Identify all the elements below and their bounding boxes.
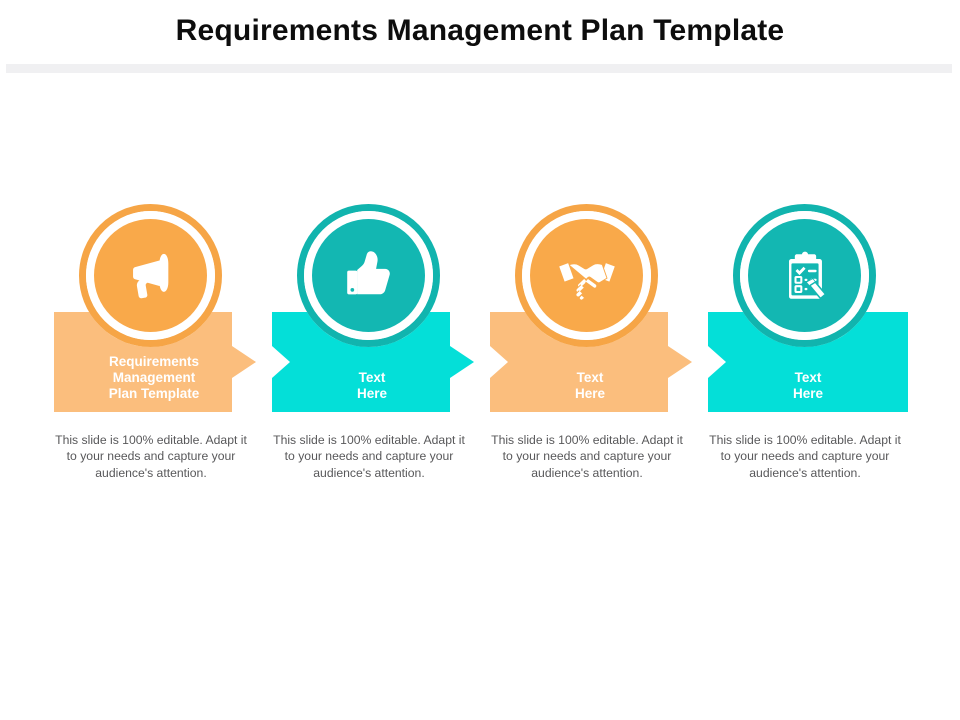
card-row: Requirements Management Plan Template Th… [0, 198, 960, 528]
card-1[interactable]: Requirements Management Plan Template Th… [42, 198, 260, 528]
card-1-icon-disc [94, 219, 207, 332]
title-divider [6, 64, 952, 73]
card-2-icon-circle[interactable] [297, 204, 440, 347]
card-3[interactable]: Text Here [478, 198, 696, 528]
megaphone-icon [118, 243, 184, 309]
card-2-body: This slide is 100% editable. Adapt it to… [267, 432, 471, 481]
page-title: Requirements Management Plan Template [0, 14, 960, 48]
card-4[interactable]: Text Here [696, 198, 914, 528]
card-3-icon-circle[interactable] [515, 204, 658, 347]
thumbs-up-icon [338, 245, 400, 307]
slide-canvas: { "slide": { "title": "Requirements Mana… [0, 0, 960, 720]
card-3-body: This slide is 100% editable. Adapt it to… [485, 432, 689, 481]
card-4-icon-circle[interactable] [733, 204, 876, 347]
card-4-icon-disc [748, 219, 861, 332]
card-1-icon-circle[interactable] [79, 204, 222, 347]
card-2[interactable]: Text Here This slide is 100% editable. A… [260, 198, 478, 528]
card-2-icon-disc [312, 219, 425, 332]
clipboard-checklist-pencil-icon [774, 245, 836, 307]
handshake-icon [554, 243, 620, 309]
card-4-body: This slide is 100% editable. Adapt it to… [703, 432, 907, 481]
card-1-body: This slide is 100% editable. Adapt it to… [49, 432, 253, 481]
card-3-icon-disc [530, 219, 643, 332]
